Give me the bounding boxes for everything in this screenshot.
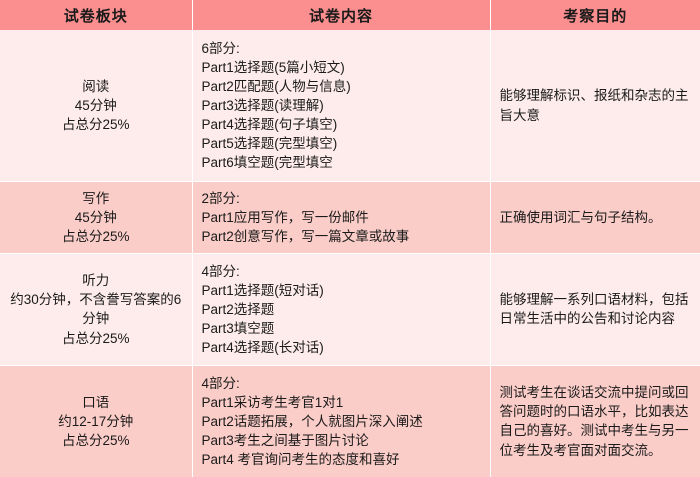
row-section-speaking: 口语 约12-17分钟 占总分25% [0, 365, 192, 477]
row-content-speaking: 4部分: Part1采访考生考官1对1 Part2话题拓展，个人就图片深入阐述 … [192, 365, 490, 477]
table-row: 听力 约30分钟，不含誊写答案的6分钟 占总分25% 4部分: Part1选择题… [0, 253, 700, 365]
exam-structure-table: 试卷板块 试卷内容 考察目的 阅读 45分钟 占总分25% 6部分: Part1… [0, 0, 700, 477]
row-content-listening: 4部分: Part1选择题(短对话) Part2选择题 Part3填空题 Par… [192, 253, 490, 365]
header-row: 试卷板块 试卷内容 考察目的 [0, 0, 700, 30]
row-purpose-listening: 能够理解一系列口语材料，包括日常生活中的公告和讨论内容 [490, 253, 700, 365]
header-section: 试卷板块 [0, 0, 192, 30]
table-header: 试卷板块 试卷内容 考察目的 [0, 0, 700, 30]
table-row: 写作 45分钟 占总分25% 2部分: Part1应用写作，写一份邮件 Part… [0, 182, 700, 254]
row-section-reading: 阅读 45分钟 占总分25% [0, 30, 192, 182]
row-purpose-speaking: 测试考生在谈话交流中提问或回答问题时的口语水平，比如表达自己的喜好。测试中考生与… [490, 365, 700, 477]
row-content-writing: 2部分: Part1应用写作，写一份邮件 Part2创意写作，写一篇文章或故事 [192, 182, 490, 254]
row-section-listening: 听力 约30分钟，不含誊写答案的6分钟 占总分25% [0, 253, 192, 365]
table-row: 阅读 45分钟 占总分25% 6部分: Part1选择题(5篇小短文) Part… [0, 30, 700, 182]
table-body: 阅读 45分钟 占总分25% 6部分: Part1选择题(5篇小短文) Part… [0, 30, 700, 477]
row-purpose-writing: 正确使用词汇与句子结构。 [490, 182, 700, 254]
header-content: 试卷内容 [192, 0, 490, 30]
row-section-writing: 写作 45分钟 占总分25% [0, 182, 192, 254]
row-content-reading: 6部分: Part1选择题(5篇小短文) Part2匹配题(人物与信息) Par… [192, 30, 490, 182]
table-row: 口语 约12-17分钟 占总分25% 4部分: Part1采访考生考官1对1 P… [0, 365, 700, 477]
header-purpose: 考察目的 [490, 0, 700, 30]
row-purpose-reading: 能够理解标识、报纸和杂志的主旨大意 [490, 30, 700, 182]
